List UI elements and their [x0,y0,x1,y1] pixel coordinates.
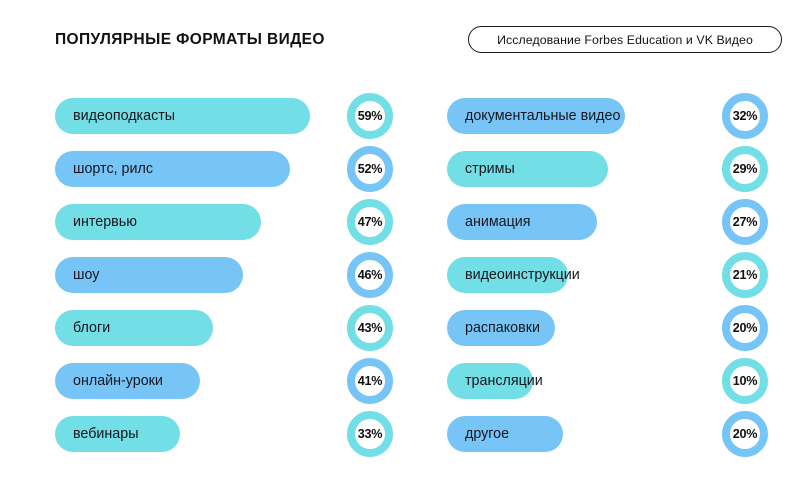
percent-donut: 32% [722,93,768,139]
chart-row: стримы29% [447,151,792,187]
format-bar [447,310,555,346]
format-bar [55,204,261,240]
chart-row: другое20% [447,416,792,452]
percent-donut: 47% [347,199,393,245]
percent-value: 20% [733,427,758,441]
percent-donut: 21% [722,252,768,298]
percent-value: 10% [733,374,758,388]
percent-value: 59% [358,109,383,123]
chart-row: видеоинструкции21% [447,257,792,293]
format-bar [55,98,310,134]
percent-donut: 46% [347,252,393,298]
source-badge-label: Исследование Forbes Education и VK Видео [497,33,753,47]
percent-donut: 29% [722,146,768,192]
chart-row: анимация27% [447,204,792,240]
chart-row: трансляции10% [447,363,792,399]
format-bar [447,363,533,399]
percent-value: 33% [358,427,383,441]
percent-donut: 20% [722,411,768,457]
page-title: ПОПУЛЯРНЫЕ ФОРМАТЫ ВИДЕО [55,31,325,49]
format-bar [55,416,180,452]
percent-donut: 33% [347,411,393,457]
percent-value: 27% [733,215,758,229]
format-bar [55,310,213,346]
format-bar [55,363,200,399]
percent-donut: 52% [347,146,393,192]
chart-row: видеоподкасты59% [55,98,400,134]
percent-value: 20% [733,321,758,335]
percent-value: 46% [358,268,383,282]
chart-row: документальные видео32% [447,98,792,134]
format-bar [55,257,243,293]
percent-value: 29% [733,162,758,176]
percent-value: 47% [358,215,383,229]
chart-column-right: документальные видео32%стримы29%анимация… [447,98,792,469]
percent-value: 21% [733,268,758,282]
format-bar [447,98,625,134]
format-bar [447,257,568,293]
chart-row: вебинары33% [55,416,400,452]
format-bar [55,151,290,187]
chart-row: блоги43% [55,310,400,346]
percent-donut: 41% [347,358,393,404]
format-bar [447,416,563,452]
percent-donut: 20% [722,305,768,351]
percent-value: 43% [358,321,383,335]
chart-row: распаковки20% [447,310,792,346]
chart-row: интервью47% [55,204,400,240]
percent-value: 41% [358,374,383,388]
format-bar [447,151,608,187]
chart-row: онлайн-уроки41% [55,363,400,399]
format-bar [447,204,597,240]
percent-donut: 59% [347,93,393,139]
chart-row: шортс, рилс52% [55,151,400,187]
chart-row: шоу46% [55,257,400,293]
source-badge: Исследование Forbes Education и VK Видео [468,26,782,53]
percent-donut: 27% [722,199,768,245]
percent-value: 52% [358,162,383,176]
percent-donut: 43% [347,305,393,351]
percent-donut: 10% [722,358,768,404]
chart-column-left: видеоподкасты59%шортс, рилс52%интервью47… [55,98,400,469]
percent-value: 32% [733,109,758,123]
